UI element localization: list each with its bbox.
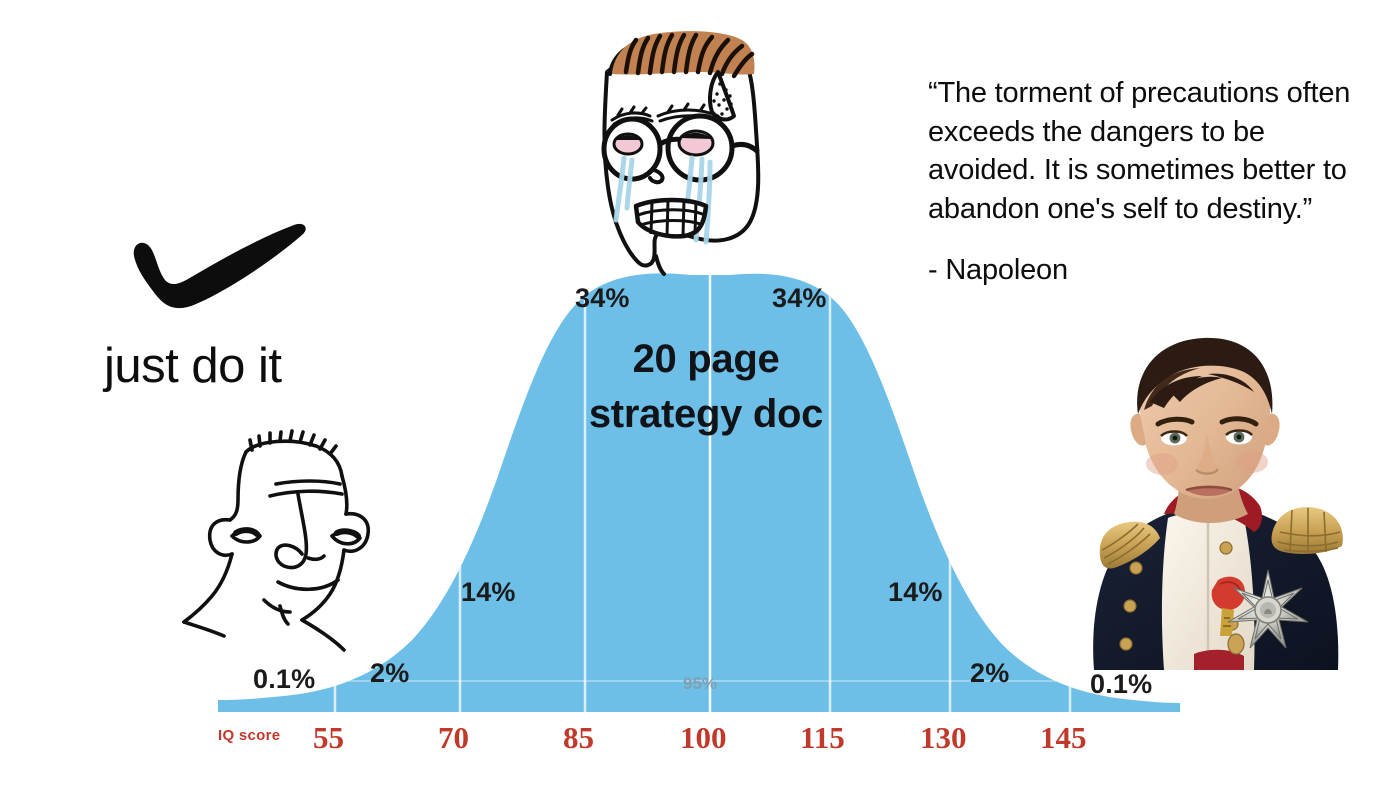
center-caption-strategy-doc: 20 page strategy doc (556, 332, 856, 442)
quote-text: “The torment of precautions often exceed… (928, 74, 1358, 228)
pct-label-14-right: 14% (888, 577, 943, 608)
pct-label-2-right: 2% (970, 658, 1009, 689)
napoleon-portrait-image (1040, 318, 1370, 670)
meme-canvas: 0.1% 2% 14% 34% 34% 14% 2% 0.1% 95% IQ s… (0, 0, 1400, 788)
center-caption-line2: strategy doc (556, 387, 856, 442)
axis-title-iq-score: IQ score (218, 727, 280, 744)
axis-tick-130: 130 (920, 720, 967, 756)
left-caption-just-do-it: just do it (104, 338, 414, 394)
pct-label-0-1-right: 0.1% (1090, 669, 1152, 700)
pct-label-14-left: 14% (461, 577, 516, 608)
pct-label-95-inner: 95% (683, 674, 717, 694)
axis-tick-115: 115 (800, 720, 845, 756)
axis-tick-145: 145 (1040, 720, 1087, 756)
axis-tick-100: 100 (680, 720, 727, 756)
quote-block: “The torment of precautions often exceed… (928, 74, 1358, 287)
checkmark-swoosh-icon (126, 222, 316, 312)
axis-tick-85: 85 (563, 720, 594, 756)
pct-label-34-right: 34% (772, 283, 827, 314)
center-caption-line1: 20 page (556, 332, 856, 387)
pct-label-34-left: 34% (575, 283, 630, 314)
brainlet-wojak-icon (180, 418, 385, 663)
axis-tick-70: 70 (438, 720, 469, 756)
quote-attribution: - Napoleon (928, 254, 1358, 287)
pct-label-0-1-left: 0.1% (253, 664, 315, 695)
axis-tick-55: 55 (313, 720, 344, 756)
crying-wojak-glasses-icon (572, 12, 802, 287)
